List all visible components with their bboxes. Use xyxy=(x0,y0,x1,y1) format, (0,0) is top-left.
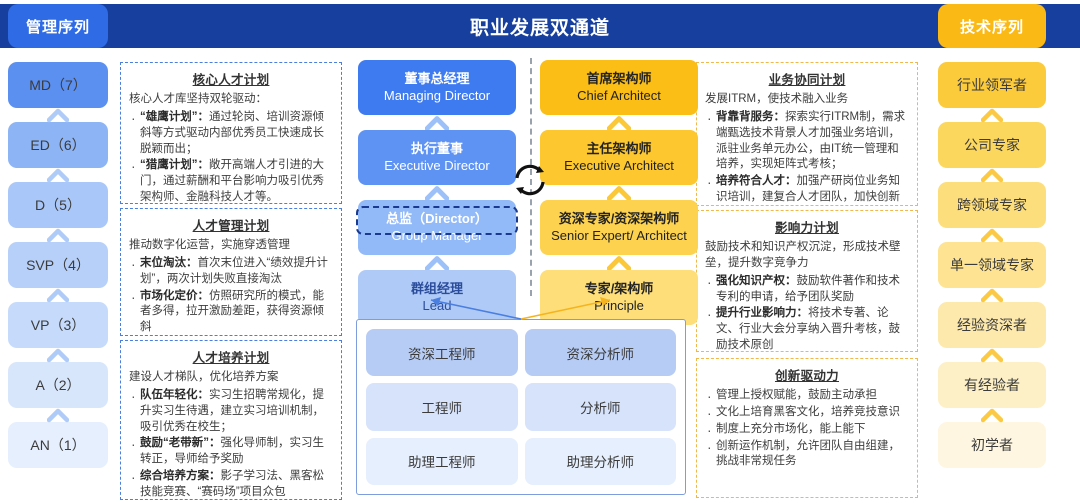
grade-left-1[interactable]: ED（6） xyxy=(8,122,108,168)
panel-lead: 发展ITRM，使技术融入业务 xyxy=(705,92,909,108)
panel-bullet-0: 管理上授权赋能，鼓励主动承担 xyxy=(705,388,909,404)
panel-title: 核心人才计划 xyxy=(129,69,333,88)
panel-bullet-1: 文化上培育黑客文化，培养竞技意识 xyxy=(705,405,909,421)
panel-bullet-1: 培养符合人才：加强产研岗位业务知识培训，建复合人才团队，加快创新 xyxy=(705,174,909,206)
chevron-up-icon xyxy=(540,115,698,130)
technical-grade-ladder: 行业领军者公司专家跨领域专家单一领域专家经验资深者有经验者初学者 xyxy=(938,62,1046,468)
panel-bullet-0: 末位淘汰：首次末位进入“绩效提升计划”，两次计划失败直接淘汰 xyxy=(129,256,333,288)
base-role-0[interactable]: 资深工程师 xyxy=(366,329,518,376)
tech-role-2-en: Senior Expert/ Architect xyxy=(551,228,687,244)
chevron-up-icon xyxy=(8,288,108,302)
panel-bullets: 强化知识产权：鼓励软件著作和技术专利的申请，给予团队奖励提升行业影响力：将技术专… xyxy=(705,274,909,354)
career-dual-track-diagram: 职业发展双通道 管理序列 技术序列 MD（7）ED（6）D（5）SVP（4）VP… xyxy=(0,0,1080,503)
panel-bullet-1: 市场化定价：仿照研究所的模式，能者多得，拉开激励差距，获得资源倾斜 xyxy=(129,289,333,337)
mgmt-role-1-cn: 执行董事 xyxy=(411,141,463,157)
tech-role-2-cn: 资深专家/资深架构师 xyxy=(559,211,680,227)
panel-lead: 建设人才梯队，优化培养方案 xyxy=(129,370,333,386)
panel-title: 人才培养计划 xyxy=(129,347,333,366)
base-role-3[interactable]: 分析师 xyxy=(525,383,677,430)
panel-lead: 推动数字化运营，实施穿透管理 xyxy=(129,238,333,254)
management-grade-ladder: MD（7）ED（6）D（5）SVP（4）VP（3）A（2）AN（1） xyxy=(8,62,108,468)
chevron-up-icon xyxy=(938,168,1046,182)
tech-role-1[interactable]: 主任架构师Executive Architect xyxy=(540,130,698,185)
tech-role-3-en: Principle xyxy=(594,298,644,314)
grade-left-3[interactable]: SVP（4） xyxy=(8,242,108,288)
base-role-5[interactable]: 助理分析师 xyxy=(525,438,677,485)
panel-bullets: 背靠背服务：探索实行ITRM制，需求端甄选技术背景人才加强业务培训，派驻业务单元… xyxy=(705,110,909,206)
grade-right-5[interactable]: 有经验者 xyxy=(938,362,1046,408)
grade-left-5[interactable]: A（2） xyxy=(8,362,108,408)
base-role-1[interactable]: 资深分析师 xyxy=(525,329,677,376)
panel-bullets: 队伍年轻化：实习生招聘常规化，提升实习生待遇，建立实习培训机制，吸引优秀在校生；… xyxy=(129,388,333,501)
chevron-up-icon xyxy=(358,185,516,200)
program-panel-left-2[interactable]: 人才培养计划建设人才梯队，优化培养方案队伍年轻化：实习生招聘常规化，提升实习生待… xyxy=(120,340,342,500)
mgmt-role-0-cn: 董事总经理 xyxy=(404,71,469,87)
panel-bullet-0: 队伍年轻化：实习生招聘常规化，提升实习生待遇，建立实习培训机制，吸引优秀在校生； xyxy=(129,388,333,436)
track-divider xyxy=(530,58,532,296)
chevron-up-icon xyxy=(8,348,108,362)
grade-left-0[interactable]: MD（7） xyxy=(8,62,108,108)
mgmt-role-3[interactable]: 群组经理Lead xyxy=(358,270,516,325)
mgmt-role-1-en: Executive Director xyxy=(384,158,489,174)
panel-bullet-2: 制度上充分市场化，能上能下 xyxy=(705,422,909,438)
grade-left-2[interactable]: D（5） xyxy=(8,182,108,228)
panel-title: 人才管理计划 xyxy=(129,215,333,234)
panel-bullet-2: 综合培养方案：影子学习法、黑客松技能竞赛、“赛码场”项目众包 xyxy=(129,469,333,501)
tech-role-0-cn: 首席架构师 xyxy=(586,71,651,87)
program-panel-right-2[interactable]: 创新驱动力管理上授权赋能，鼓励主动承担文化上培育黑客文化，培养竞技意识制度上充分… xyxy=(696,358,918,498)
mgmt-role-3-en: Lead xyxy=(423,298,452,314)
grade-right-4[interactable]: 经验资深者 xyxy=(938,302,1046,348)
program-panel-left-0[interactable]: 核心人才计划核心人才库坚持双轮驱动：“雄鹰计划”：通过轮岗、培训资源倾斜等方式驱… xyxy=(120,62,342,204)
panel-lead: 鼓励技术和知识产权沉淀，形成技术壁垒，提升数字竞争力 xyxy=(705,240,909,272)
panel-bullet-1: 提升行业影响力：将技术专著、论文、行业大会分享纳入晋升考核，鼓励技术原创 xyxy=(705,306,909,354)
grade-right-3[interactable]: 单一领域专家 xyxy=(938,242,1046,288)
tech-role-1-cn: 主任架构师 xyxy=(586,141,651,157)
mgmt-role-3-cn: 群组经理 xyxy=(411,281,463,297)
panel-bullet-1: 鼓励“老带新”：强化导师制，实习生转正，导师给予奖励 xyxy=(129,436,333,468)
panel-bullet-1: “猎鹰计划”：敞开高端人才引进的大门，通过薪酬和平台影响力吸引优秀架构师、金融科… xyxy=(129,158,333,206)
base-role-4[interactable]: 助理工程师 xyxy=(366,438,518,485)
tab-management-track[interactable]: 管理序列 xyxy=(8,4,108,48)
chevron-up-icon xyxy=(358,115,516,130)
panel-title: 影响力计划 xyxy=(705,217,909,236)
chevron-up-icon xyxy=(8,408,108,422)
chevron-up-icon xyxy=(938,228,1046,242)
mgmt-role-0-en: Managing Director xyxy=(384,88,490,104)
tech-role-3[interactable]: 专家/架构师Principle xyxy=(540,270,698,325)
panel-bullet-0: 强化知识产权：鼓励软件著作和技术专利的申请，给予团队奖励 xyxy=(705,274,909,306)
panel-title: 业务协同计划 xyxy=(705,69,909,88)
grade-right-2[interactable]: 跨领域专家 xyxy=(938,182,1046,228)
panel-bullet-3: 创新运作机制，允许团队自由组建，挑战非常规任务 xyxy=(705,439,909,471)
chevron-up-icon xyxy=(938,348,1046,362)
tech-role-3-cn: 专家/架构师 xyxy=(585,281,654,297)
program-panel-right-0[interactable]: 业务协同计划发展ITRM，使技术融入业务背靠背服务：探索实行ITRM制，需求端甄… xyxy=(696,62,918,206)
management-track-column: 董事总经理Managing Director执行董事Executive Dire… xyxy=(358,60,516,325)
chevron-up-icon xyxy=(938,408,1046,422)
chevron-up-icon xyxy=(540,185,698,200)
group-manager-highlight-outline xyxy=(356,206,518,235)
panel-bullets: 末位淘汰：首次末位进入“绩效提升计划”，两次计划失败直接淘汰市场化定价：仿照研究… xyxy=(129,256,333,336)
base-role-2[interactable]: 工程师 xyxy=(366,383,518,430)
chevron-up-icon xyxy=(540,255,698,270)
panel-bullet-0: “雄鹰计划”：通过轮岗、培训资源倾斜等方式驱动内部优秀员工快速成长脱颖而出； xyxy=(129,110,333,158)
panel-bullets: 管理上授权赋能，鼓励主动承担文化上培育黑客文化，培养竞技意识制度上充分市场化，能… xyxy=(705,388,909,470)
grade-right-1[interactable]: 公司专家 xyxy=(938,122,1046,168)
panel-bullets: “雄鹰计划”：通过轮岗、培训资源倾斜等方式驱动内部优秀员工快速成长脱颖而出；“猎… xyxy=(129,110,333,206)
panel-lead: 核心人才库坚持双轮驱动： xyxy=(129,92,333,108)
mgmt-role-1[interactable]: 执行董事Executive Director xyxy=(358,130,516,185)
base-roles-box: 资深工程师资深分析师工程师分析师助理工程师助理分析师 xyxy=(356,319,686,495)
tab-technical-track[interactable]: 技术序列 xyxy=(938,4,1046,48)
tech-role-0[interactable]: 首席架构师Chief Architect xyxy=(540,60,698,115)
chevron-up-icon xyxy=(938,288,1046,302)
tech-role-2[interactable]: 资深专家/资深架构师Senior Expert/ Architect xyxy=(540,200,698,255)
technical-track-column: 首席架构师Chief Architect主任架构师Executive Archi… xyxy=(540,60,698,325)
program-panel-right-1[interactable]: 影响力计划鼓励技术和知识产权沉淀，形成技术壁垒，提升数字竞争力强化知识产权：鼓励… xyxy=(696,210,918,352)
page-title: 职业发展双通道 xyxy=(0,4,1080,48)
chevron-up-icon xyxy=(8,168,108,182)
grade-left-4[interactable]: VP（3） xyxy=(8,302,108,348)
chevron-up-icon xyxy=(938,108,1046,122)
grade-right-6[interactable]: 初学者 xyxy=(938,422,1046,468)
grade-left-6[interactable]: AN（1） xyxy=(8,422,108,468)
mgmt-role-0[interactable]: 董事总经理Managing Director xyxy=(358,60,516,115)
grade-right-0[interactable]: 行业领军者 xyxy=(938,62,1046,108)
chevron-up-icon xyxy=(8,108,108,122)
chevron-up-icon xyxy=(8,228,108,242)
chevron-up-icon xyxy=(358,255,516,270)
panel-bullet-0: 背靠背服务：探索实行ITRM制，需求端甄选技术背景人才加强业务培训，派驻业务单元… xyxy=(705,110,909,173)
base-roles-grid: 资深工程师资深分析师工程师分析师助理工程师助理分析师 xyxy=(357,320,685,494)
panel-title: 创新驱动力 xyxy=(705,365,909,384)
program-panel-left-1[interactable]: 人才管理计划推动数字化运营，实施穿透管理末位淘汰：首次末位进入“绩效提升计划”，… xyxy=(120,208,342,336)
tech-role-0-en: Chief Architect xyxy=(577,88,661,104)
tech-role-1-en: Executive Architect xyxy=(564,158,674,174)
